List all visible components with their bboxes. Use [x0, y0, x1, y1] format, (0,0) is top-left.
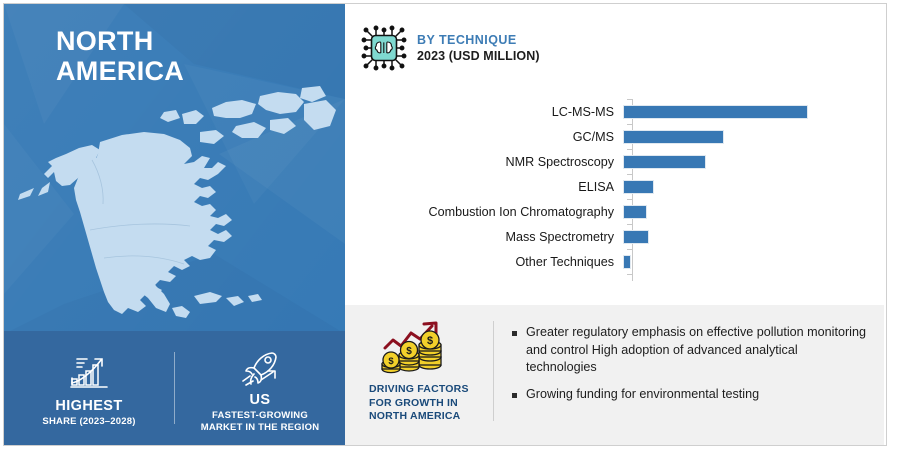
bar-fill: [623, 155, 706, 169]
chart-subtitle: 2023 (USD MILLION): [417, 49, 540, 63]
drivers-icon-block: $ $ $ DRIVING FACTORS FOR GROWTH IN NORT…: [345, 305, 493, 424]
bar-category-label: LC-MS-MS: [361, 105, 623, 119]
bar-track: [623, 174, 861, 199]
bar-track: [623, 124, 861, 149]
bar-fill: [623, 130, 724, 144]
svg-text:$: $: [427, 335, 433, 347]
bar-track: [623, 224, 861, 249]
bar-track: [623, 249, 861, 274]
chart-section: BY TECHNIQUE 2023 (USD MILLION) LC-MS-MS…: [345, 4, 884, 305]
rocket-icon: [237, 346, 283, 388]
bar-fill: [623, 105, 808, 119]
bar-fill: [623, 255, 631, 269]
drivers-section: $ $ $ DRIVING FACTORS FOR GROWTH IN NORT…: [345, 305, 884, 445]
bar-category-label: Other Techniques: [361, 255, 623, 269]
stat-highest-share: HIGHEST SHARE (2023–2028): [4, 348, 174, 428]
north-america-map-icon: [4, 82, 345, 318]
bar-track: [623, 149, 861, 174]
bar-fill: [623, 205, 647, 219]
bar-row: Mass Spectrometry: [361, 224, 861, 249]
page-title: NORTH AMERICA: [56, 26, 184, 86]
chart-header: BY TECHNIQUE 2023 (USD MILLION): [361, 25, 540, 71]
bar-category-label: ELISA: [361, 180, 623, 194]
bar-category-label: Mass Spectrometry: [361, 230, 623, 244]
bar-fill: [623, 180, 654, 194]
drivers-caption: DRIVING FACTORS FOR GROWTH IN NORTH AMER…: [369, 383, 469, 424]
square-bullet-icon: [512, 331, 517, 336]
driver-item: Greater regulatory emphasis on effective…: [512, 324, 868, 377]
bar-chart-growth-icon: [67, 352, 111, 394]
bar-fill: [623, 230, 649, 244]
chart-title: BY TECHNIQUE: [417, 33, 540, 47]
infographic-slide: NORTH AMERICA: [0, 0, 900, 449]
bar-row: GC/MS: [361, 124, 861, 149]
stat-us-fastest-growing: US FASTEST-GROWING MARKET IN THE REGION: [175, 342, 345, 434]
region-panel: NORTH AMERICA: [4, 4, 345, 445]
square-bullet-icon: [512, 393, 517, 398]
stat-title: HIGHEST: [55, 398, 122, 414]
drivers-list: Greater regulatory emphasis on effective…: [494, 305, 884, 412]
driver-item: Growing funding for environmental testin…: [512, 386, 868, 404]
bar-row: NMR Spectroscopy: [361, 149, 861, 174]
axis-tick: [627, 274, 632, 275]
content-panel: BY TECHNIQUE 2023 (USD MILLION) LC-MS-MS…: [345, 4, 884, 445]
stat-title: US: [250, 392, 271, 408]
driver-text: Growing funding for environmental testin…: [526, 386, 759, 404]
bar-row: Combustion Ion Chromatography: [361, 199, 861, 224]
bar-row: ELISA: [361, 174, 861, 199]
bar-row: Other Techniques: [361, 249, 861, 274]
bar-rows: LC-MS-MSGC/MSNMR SpectroscopyELISACombus…: [361, 99, 861, 274]
svg-text:$: $: [388, 356, 394, 367]
driver-text: Greater regulatory emphasis on effective…: [526, 324, 868, 377]
stat-subtitle: SHARE (2023–2028): [42, 416, 135, 428]
bar-category-label: GC/MS: [361, 130, 623, 144]
ai-microchip-icon: [361, 25, 407, 71]
bar-category-label: NMR Spectroscopy: [361, 155, 623, 169]
bar-track: [623, 199, 861, 224]
coins-growth-arrow-icon: $ $ $: [380, 319, 458, 377]
svg-text:$: $: [406, 346, 412, 357]
bar-category-label: Combustion Ion Chromatography: [361, 205, 623, 219]
bar-row: LC-MS-MS: [361, 99, 861, 124]
bar-track: [623, 99, 861, 124]
bar-chart: LC-MS-MSGC/MSNMR SpectroscopyELISACombus…: [361, 99, 861, 289]
stat-subtitle: FASTEST-GROWING MARKET IN THE REGION: [201, 410, 320, 434]
region-stats-bar: HIGHEST SHARE (2023–2028): [4, 331, 345, 445]
